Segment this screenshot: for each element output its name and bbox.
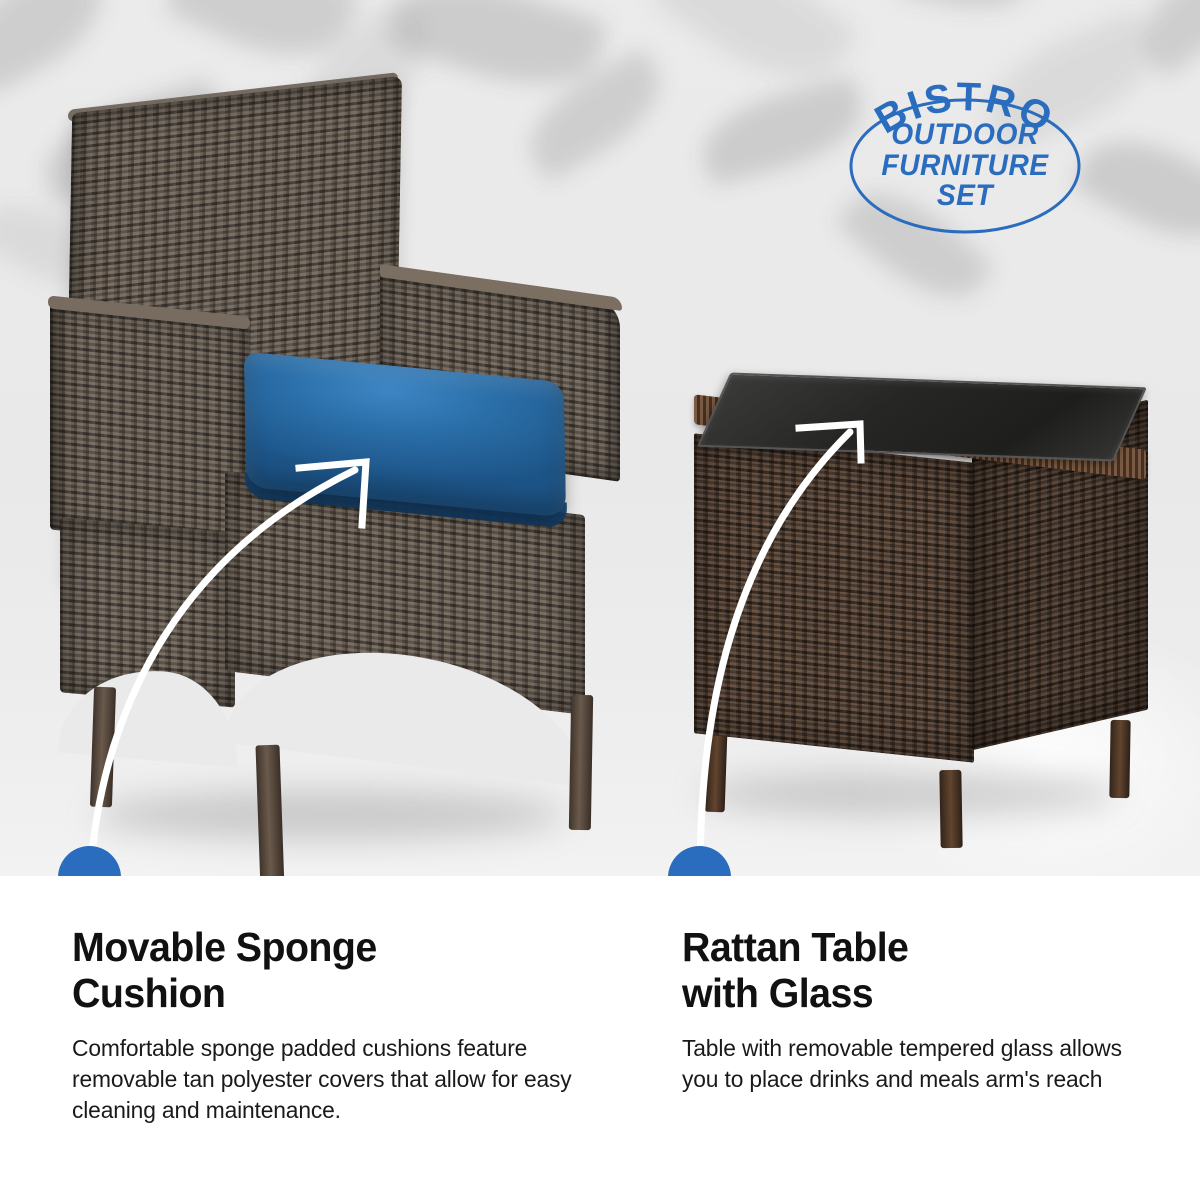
feature-block-cushion: Movable Sponge Cushion Comfortable spong… — [72, 924, 602, 1126]
wicker-side-table — [690, 380, 1160, 820]
bistro-badge: BISTRO OUTDOOR FURNITURE SET — [838, 62, 1092, 242]
chair-left-armrest — [50, 299, 250, 550]
badge-line-furniture: FURNITURE — [846, 151, 1085, 182]
chair-leg-back-right — [569, 695, 593, 830]
badge-line-outdoor: OUTDOOR — [846, 120, 1085, 151]
feature-body-table: Table with removable tempered glass allo… — [682, 1033, 1148, 1095]
product-photo-area: BISTRO OUTDOOR FURNITURE SET — [0, 0, 1200, 876]
feature-text-area: Movable Sponge Cushion Comfortable spong… — [0, 876, 1200, 1200]
wicker-armchair — [50, 95, 650, 835]
badge-stacked-text: OUTDOOR FURNITURE SET — [838, 120, 1092, 212]
feature-headline-cushion-line1: Movable Sponge — [72, 924, 377, 970]
feature-body-cushion: Comfortable sponge padded cushions featu… — [72, 1033, 586, 1126]
chair-leg-front-center — [255, 745, 284, 876]
product-infographic: BISTRO OUTDOOR FURNITURE SET Movable Spo… — [0, 0, 1200, 1200]
feature-headline-table-line1: Rattan Table — [682, 924, 908, 970]
feature-block-table: Rattan Table with Glass Table with remov… — [682, 924, 1162, 1095]
table-leg-center — [939, 770, 962, 848]
badge-line-set: SET — [846, 181, 1085, 212]
table-leg-right — [1109, 720, 1130, 798]
feature-headline-table-line2: with Glass — [682, 970, 873, 1016]
table-front-panel — [694, 433, 974, 762]
feature-headline-table: Rattan Table with Glass — [682, 924, 1143, 1017]
tempered-glass-top — [697, 373, 1147, 462]
chair-leg-front-left — [90, 687, 116, 808]
feature-headline-cushion-line2: Cushion — [72, 970, 225, 1016]
feature-headline-cushion: Movable Sponge Cushion — [72, 924, 581, 1017]
table-leg-left — [705, 732, 728, 813]
